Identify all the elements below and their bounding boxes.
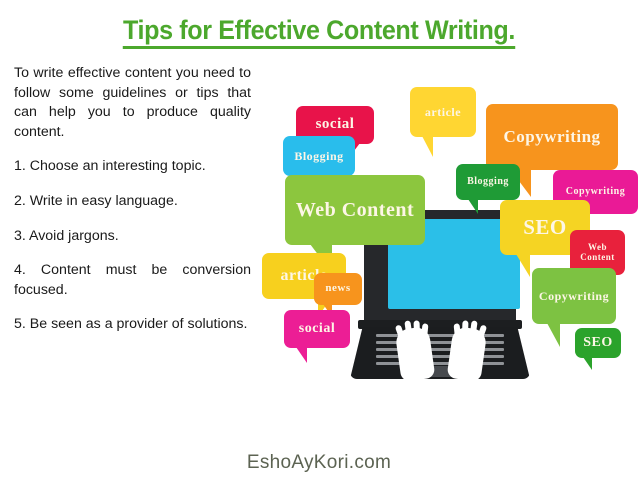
speech-bubble-label: SEO bbox=[583, 336, 613, 351]
speech-bubble-label: Web Content bbox=[296, 200, 414, 221]
page-title: Tips for Effective Content Writing. bbox=[22, 14, 615, 46]
speech-bubble-social: social bbox=[284, 310, 350, 348]
speech-bubble-label: social bbox=[316, 117, 355, 133]
speech-bubble-article: article bbox=[410, 87, 476, 137]
speech-bubble-label: article bbox=[425, 106, 461, 119]
speech-bubble-label: news bbox=[325, 283, 350, 295]
speech-bubble-tail bbox=[583, 357, 592, 370]
body-copy: To write effective content you need to f… bbox=[14, 64, 251, 335]
page-title-text: Tips for Effective Content Writing. bbox=[123, 15, 515, 49]
tip-item-5: 5. Be seen as a provider of solutions. bbox=[14, 315, 251, 335]
speech-bubble-label: Blogging bbox=[467, 177, 509, 188]
speech-bubble-tail bbox=[547, 323, 560, 347]
speech-bubble-label: Blogging bbox=[294, 150, 343, 163]
speech-bubble-label: Copywriting bbox=[566, 187, 625, 198]
content-writing-illustration: socialarticleCopywritingBloggingBlogging… bbox=[258, 78, 638, 388]
speech-bubble-label: Web Content bbox=[576, 243, 619, 262]
intro-paragraph: To write effective content you need to f… bbox=[14, 64, 251, 142]
speech-bubble-news: news bbox=[314, 273, 362, 305]
speech-bubble-blogging: Blogging bbox=[283, 136, 355, 176]
speech-bubble-tail bbox=[516, 254, 530, 277]
speech-bubble-copywriting: Copywriting bbox=[532, 268, 616, 324]
speech-bubble-copywriting: Copywriting bbox=[486, 104, 618, 170]
speech-bubble-label: social bbox=[299, 322, 335, 337]
tip-item-3: 3. Avoid jargons. bbox=[14, 227, 251, 247]
speech-bubble-label: SEO bbox=[523, 216, 567, 238]
tip-item-4: 4. Content must be conversion focused. bbox=[14, 261, 251, 300]
speech-bubble-label: Copywriting bbox=[503, 128, 600, 146]
speech-bubble-web-content: Web Content bbox=[285, 175, 425, 245]
speech-bubble-seo: SEO bbox=[575, 328, 621, 358]
slide-canvas: Tips for Effective Content Writing. To w… bbox=[0, 0, 638, 479]
speech-bubble-tail bbox=[468, 199, 478, 214]
speech-bubble-tail bbox=[422, 136, 433, 157]
tip-item-1: 1. Choose an interesting topic. bbox=[14, 157, 251, 177]
speech-bubble-label: Copywriting bbox=[539, 290, 609, 303]
speech-bubble-tail bbox=[296, 347, 307, 363]
typing-hand-right bbox=[447, 326, 488, 382]
footer-brand: EshoAyKori.com bbox=[0, 452, 638, 474]
speech-bubble-blogging: Blogging bbox=[456, 164, 520, 200]
tip-item-2: 2. Write in easy language. bbox=[14, 192, 251, 212]
